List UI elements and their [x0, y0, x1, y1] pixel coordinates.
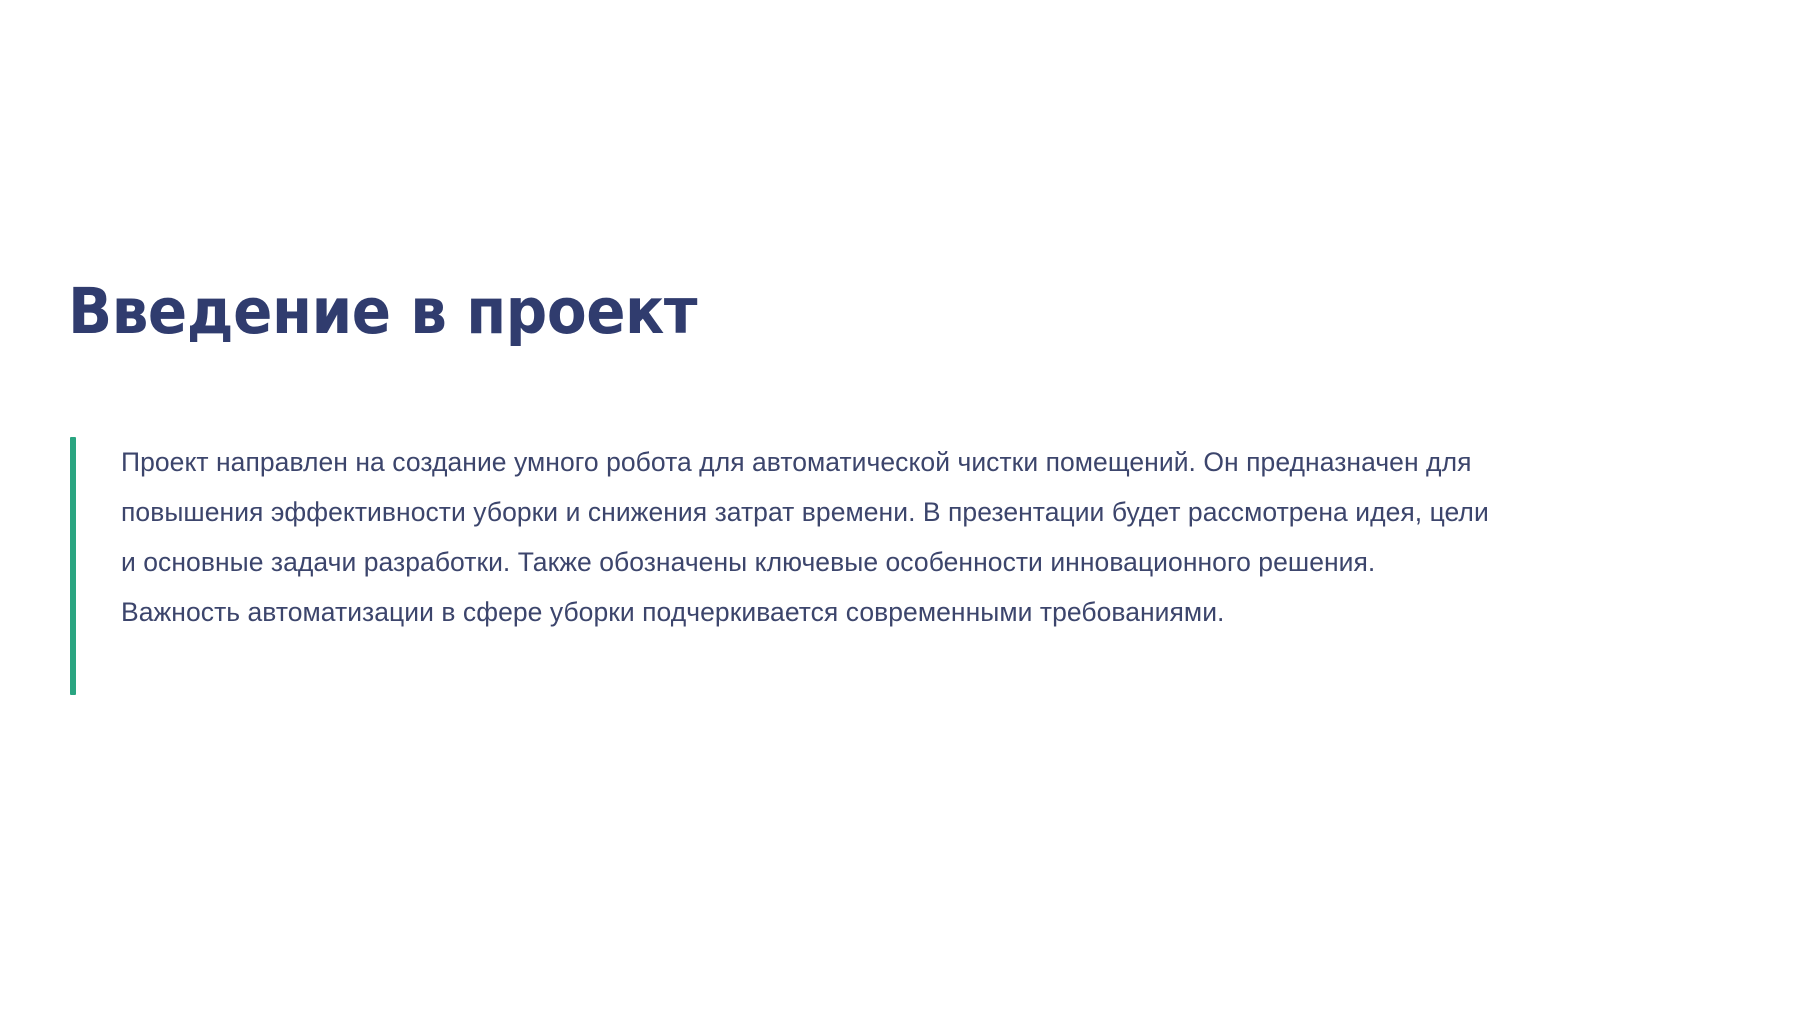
- body-text-block: Проект направлен на создание умного робо…: [70, 437, 1490, 695]
- presentation-slide: Введение в проект Проект направлен на со…: [0, 0, 1800, 1013]
- page-title: Введение в проект: [68, 277, 1540, 348]
- body-paragraph: Проект направлен на создание умного робо…: [76, 437, 1490, 695]
